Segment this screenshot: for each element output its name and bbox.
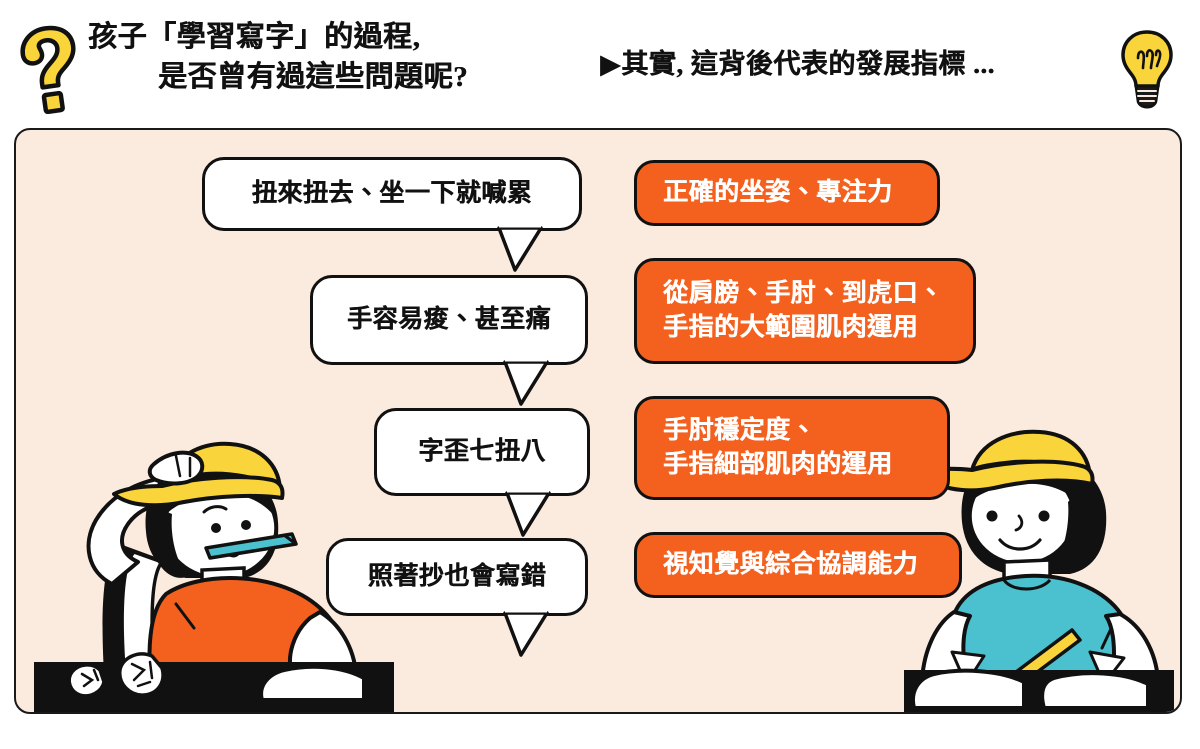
problem-bubble-1-text: 扭來扭去、坐一下就喊累 (252, 179, 533, 209)
indicator-card-4-text: 視知覺與綜合協調能力 (663, 548, 918, 582)
problem-bubble-4-text: 照著抄也會寫錯 (368, 562, 547, 592)
problem-bubble-2-text: 手容易痠、甚至痛 (347, 305, 551, 335)
indicator-card-4[interactable]: 視知覺與綜合協調能力 (634, 532, 962, 598)
indicator-card-2-text: 從肩膀、手肘、到虎口、 手指的大範圍肌肉運用 (663, 277, 944, 345)
indicator-card-3-text: 手肘穩定度、 手指細部肌肉的運用 (663, 414, 893, 482)
headline-left: 孩子「學習寫字」的過程, 是否曾有過這些問題呢? (88, 17, 588, 97)
header: 孩子「學習寫字」的過程, 是否曾有過這些問題呢? ▶其實, 這背後代表的發展指標… (0, 0, 1200, 125)
content-panel: 扭來扭去、坐一下就喊累 手容易痠、甚至痛 字歪七扭八 照著抄也會寫錯 (14, 128, 1182, 714)
bubble-tail-icon (497, 228, 543, 272)
lightbulb-icon (1116, 28, 1178, 110)
problem-bubble-3-text: 字歪七扭八 (418, 437, 546, 467)
indicator-card-3[interactable]: 手肘穩定度、 手指細部肌肉的運用 (634, 396, 950, 500)
indicator-card-1[interactable]: 正確的坐姿、專注力 (634, 160, 940, 226)
problem-bubble-1[interactable]: 扭來扭去、坐一下就喊累 (202, 157, 582, 231)
indicator-card-1-text: 正確的坐姿、專注力 (663, 176, 893, 210)
problem-bubble-2[interactable]: 手容易痠、甚至痛 (310, 275, 588, 365)
headline-right: ▶其實, 這背後代表的發展指標 ... (600, 45, 1110, 83)
headline-left-line1: 孩子「學習寫字」的過程, (88, 17, 588, 57)
bubble-tail-icon (503, 613, 549, 657)
problem-bubble-4[interactable]: 照著抄也會寫錯 (326, 538, 588, 616)
problem-bubble-3[interactable]: 字歪七扭八 (374, 408, 590, 496)
bubble-tail-icon (503, 362, 549, 406)
headline-left-line2: 是否曾有過這些問題呢? (88, 57, 588, 97)
bubble-tail-icon (505, 493, 551, 537)
indicator-card-2[interactable]: 從肩膀、手肘、到虎口、 手指的大範圍肌肉運用 (634, 258, 976, 364)
infographic-root: 孩子「學習寫字」的過程, 是否曾有過這些問題呢? ▶其實, 這背後代表的發展指標… (0, 0, 1200, 749)
question-mark-icon (18, 22, 84, 114)
